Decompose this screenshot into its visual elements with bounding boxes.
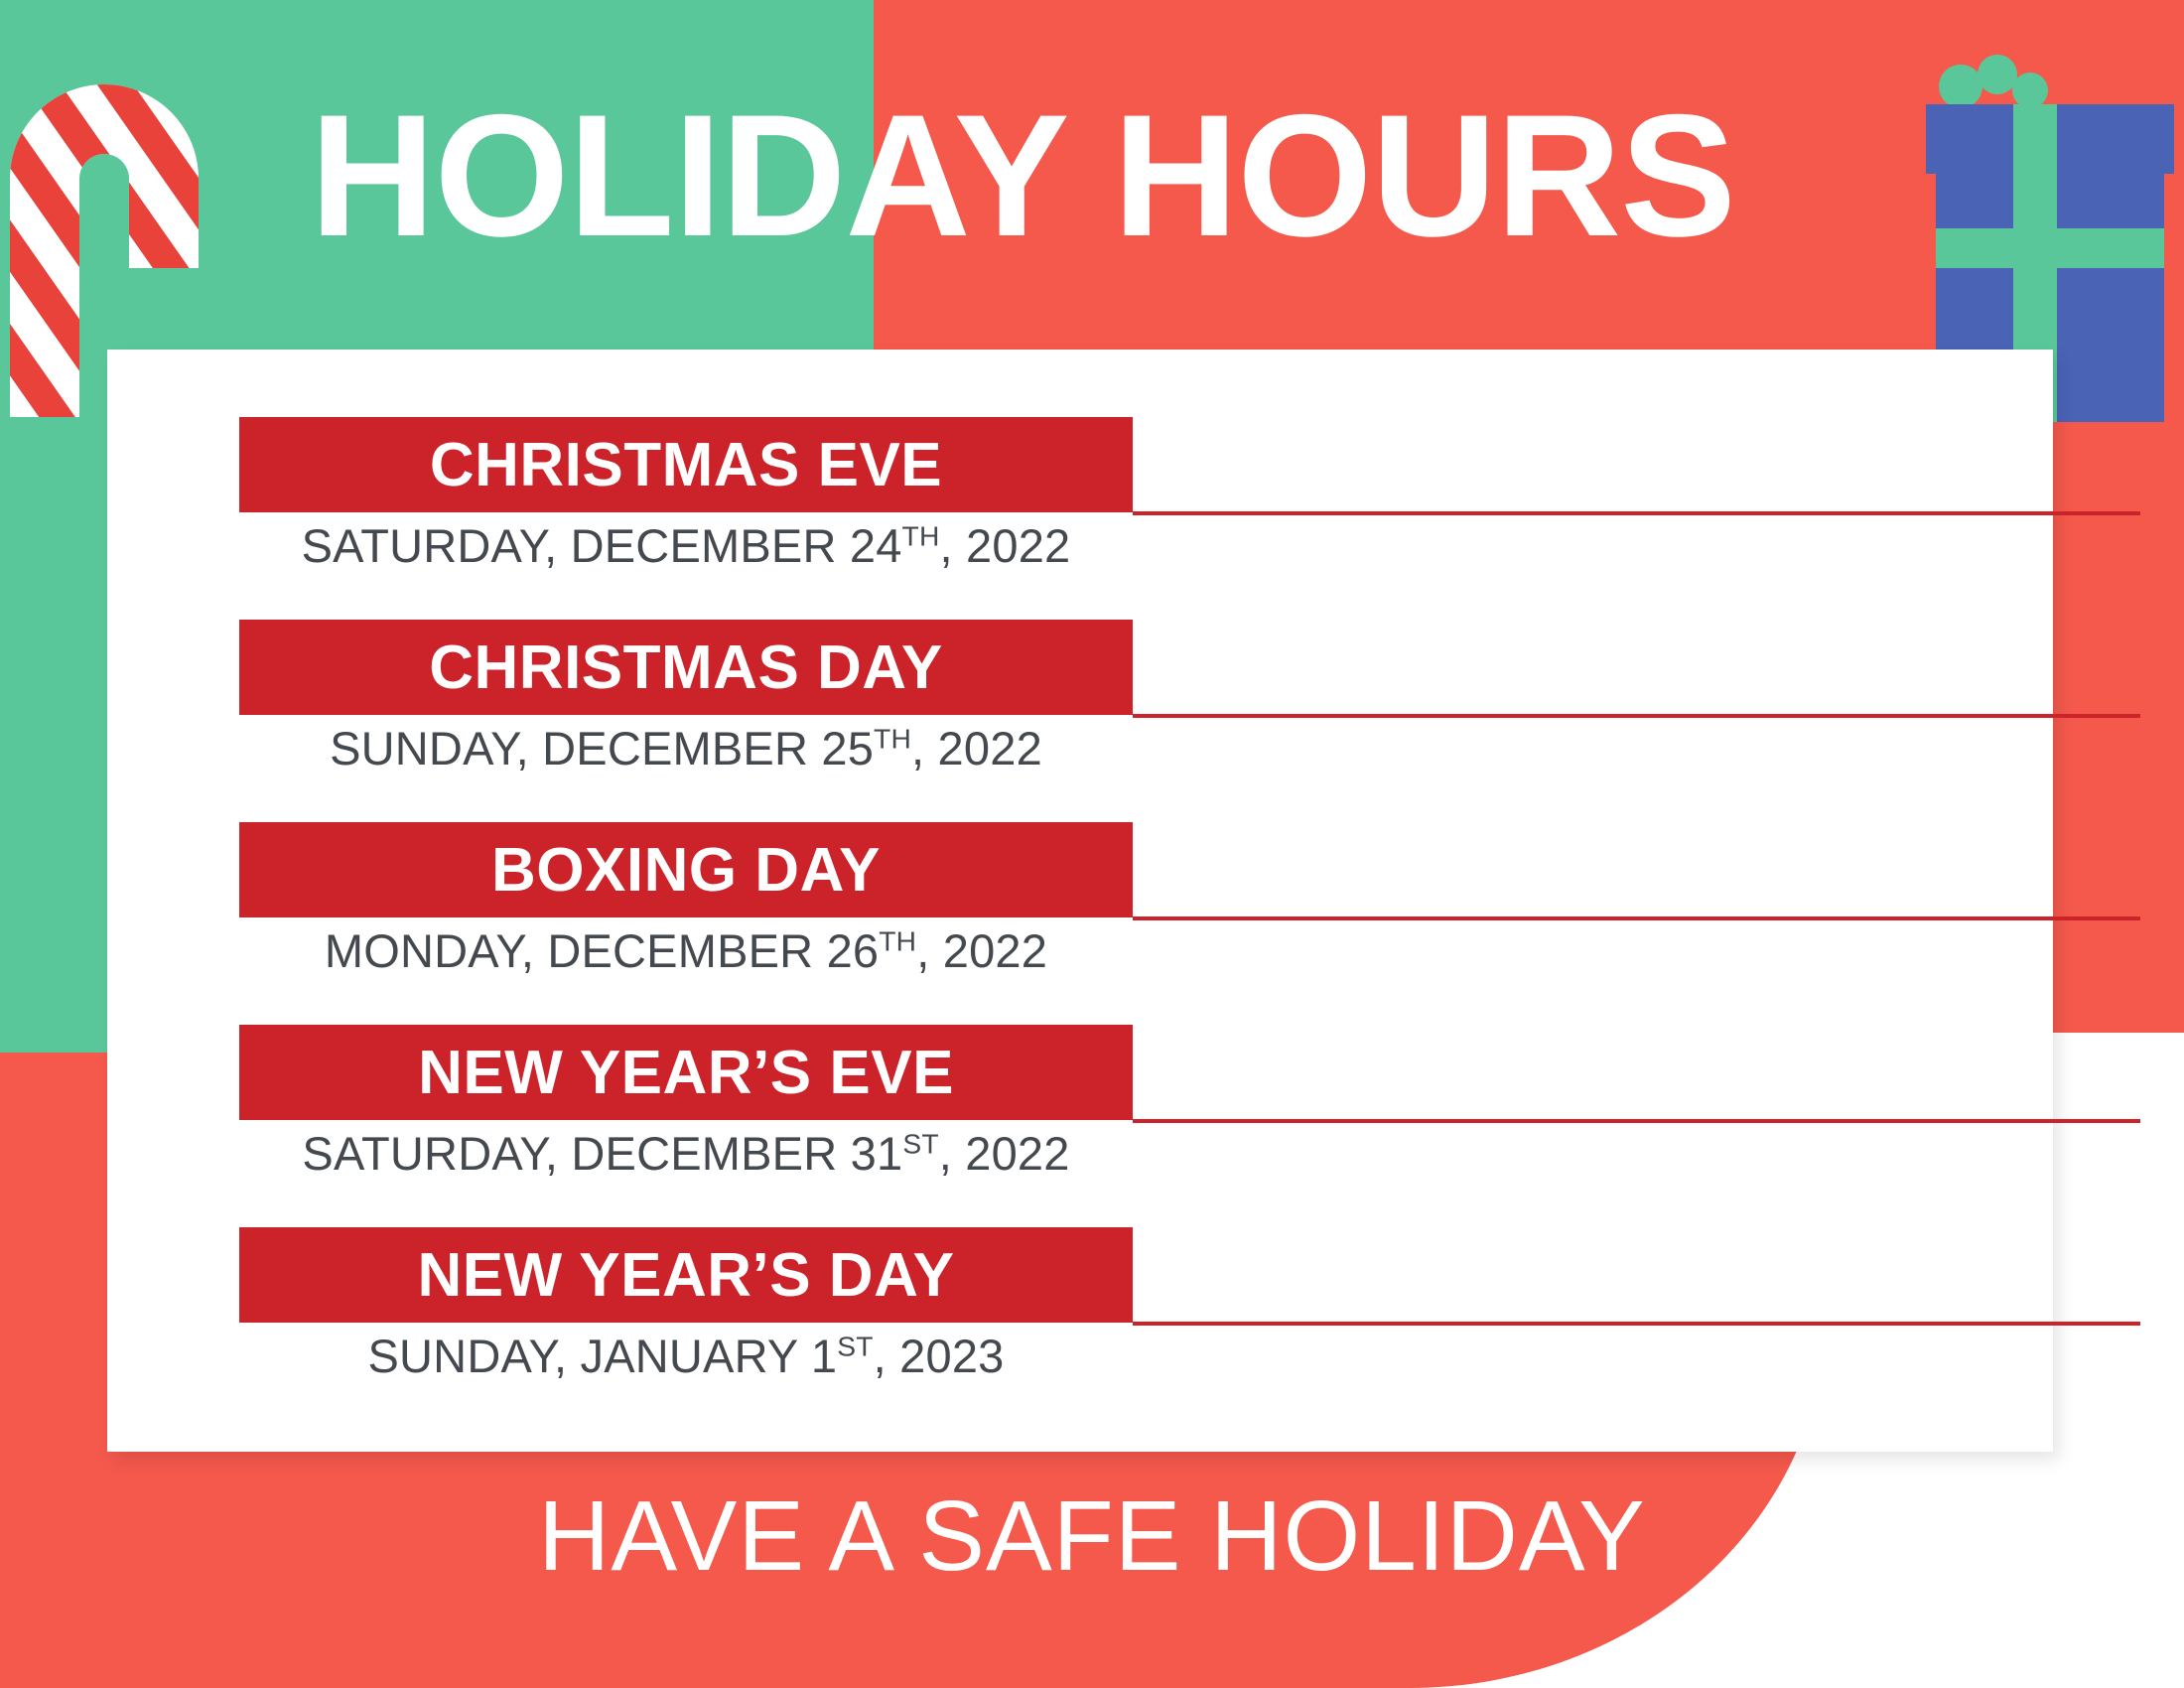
hours-row: CHRISTMAS DAY SUNDAY, DECEMBER 25TH, 202…	[132, 620, 2028, 822]
holiday-date-suffix: , 2022	[940, 519, 1071, 572]
holiday-hours-poster: HOLIDAY HOURS CHRISTMAS EVE SATURDAY, DE…	[0, 0, 2184, 1688]
holiday-date: MONDAY, DECEMBER 26TH, 2022	[239, 923, 1133, 978]
hours-rows: CHRISTMAS EVE SATURDAY, DECEMBER 24TH, 2…	[132, 417, 2028, 1430]
holiday-name: BOXING DAY	[491, 835, 881, 906]
hours-card: CHRISTMAS EVE SATURDAY, DECEMBER 24TH, 2…	[107, 350, 2053, 1452]
holiday-date: SATURDAY, DECEMBER 31ST, 2022	[239, 1126, 1133, 1181]
hours-row: CHRISTMAS EVE SATURDAY, DECEMBER 24TH, 2…	[132, 417, 2028, 620]
hours-write-in-rule	[1133, 1322, 2140, 1326]
hours-write-in-rule	[1133, 714, 2140, 718]
holiday-date: SATURDAY, DECEMBER 24TH, 2022	[239, 518, 1133, 573]
holiday-name-band: NEW YEAR’S EVE	[239, 1025, 1133, 1120]
holiday-date-prefix: SUNDAY, JANUARY 1	[367, 1330, 837, 1382]
holiday-name-band: BOXING DAY	[239, 822, 1133, 917]
holiday-name-band: CHRISTMAS DAY	[239, 620, 1133, 715]
holiday-date-suffix: , 2023	[874, 1330, 1005, 1382]
holiday-date-suffix: , 2022	[939, 1127, 1070, 1180]
holiday-name: NEW YEAR’S EVE	[418, 1038, 954, 1108]
holiday-name: NEW YEAR’S DAY	[417, 1240, 954, 1311]
holiday-name-band: NEW YEAR’S DAY	[239, 1227, 1133, 1323]
holiday-name: CHRISTMAS DAY	[429, 633, 943, 703]
holiday-date-ordinal: ST	[837, 1330, 873, 1361]
hours-write-in-rule	[1133, 511, 2140, 515]
holiday-date-ordinal: TH	[874, 722, 911, 754]
hours-row: NEW YEAR’S DAY SUNDAY, JANUARY 1ST, 2023	[132, 1227, 2028, 1430]
holiday-date-suffix: , 2022	[916, 924, 1047, 977]
holiday-date-ordinal: ST	[902, 1127, 938, 1159]
page-title: HOLIDAY HOURS	[0, 89, 2045, 263]
holiday-date: SUNDAY, DECEMBER 25TH, 2022	[239, 721, 1133, 775]
holiday-date-prefix: SUNDAY, DECEMBER 25	[330, 722, 874, 774]
holiday-date-suffix: , 2022	[911, 722, 1042, 774]
hours-write-in-rule	[1133, 1119, 2140, 1123]
footer-message: HAVE A SAFE HOLIDAY	[0, 1479, 2184, 1594]
holiday-date-prefix: MONDAY, DECEMBER 26	[325, 924, 879, 977]
holiday-date-ordinal: TH	[902, 519, 940, 551]
hours-row: NEW YEAR’S EVE SATURDAY, DECEMBER 31ST, …	[132, 1025, 2028, 1227]
holiday-date-ordinal: TH	[879, 924, 916, 956]
hours-write-in-rule	[1133, 916, 2140, 920]
holiday-date-prefix: SATURDAY, DECEMBER 24	[302, 519, 902, 572]
holiday-name: CHRISTMAS EVE	[430, 430, 942, 500]
hours-row: BOXING DAY MONDAY, DECEMBER 26TH, 2022	[132, 822, 2028, 1025]
holiday-date-prefix: SATURDAY, DECEMBER 31	[302, 1127, 902, 1180]
holiday-name-band: CHRISTMAS EVE	[239, 417, 1133, 512]
holiday-date: SUNDAY, JANUARY 1ST, 2023	[239, 1329, 1133, 1383]
